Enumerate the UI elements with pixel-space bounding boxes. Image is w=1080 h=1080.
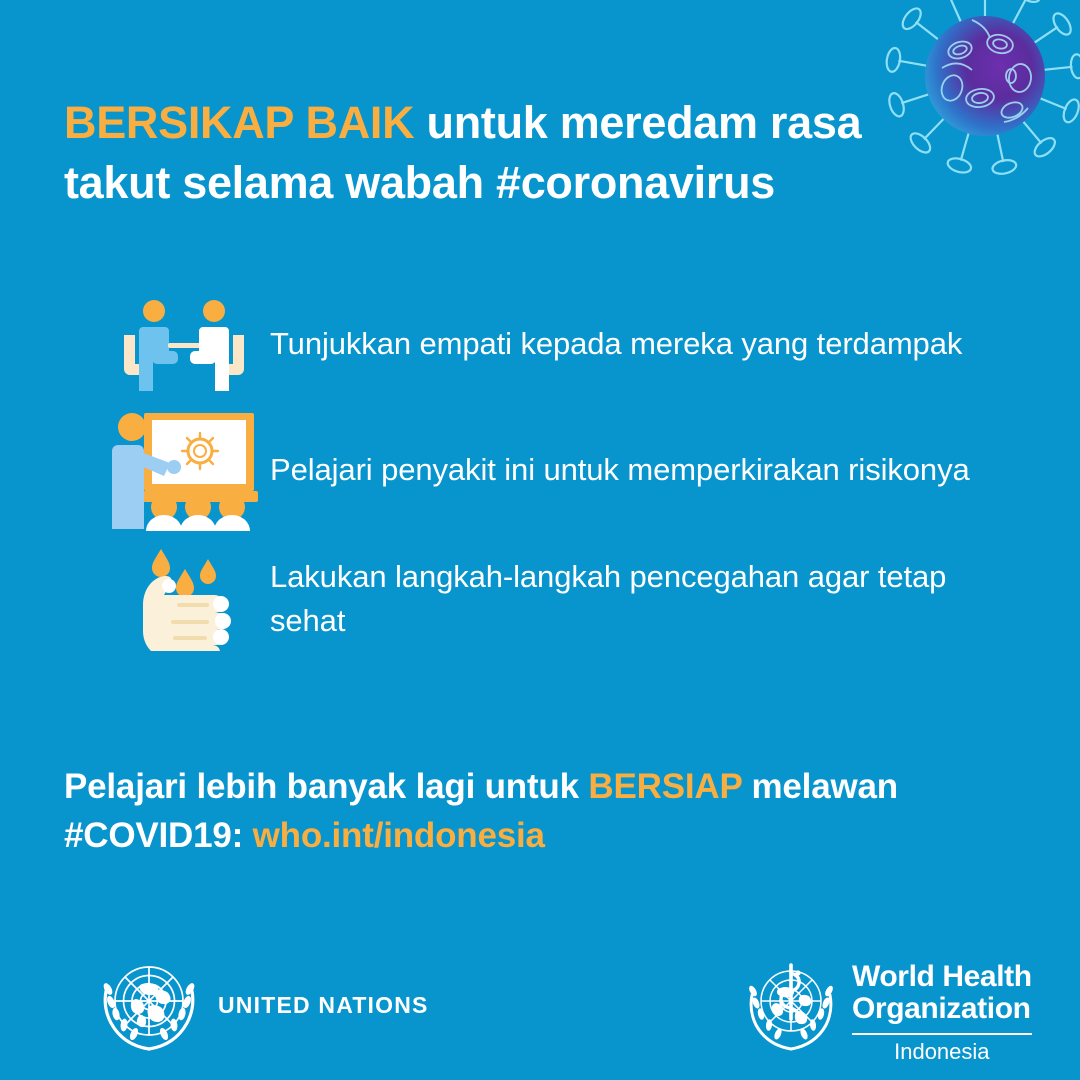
list-item: Tunjukkan empati kepada mereka yang terd… (104, 288, 1024, 400)
cta-accent-bersiap: BERSIAP (588, 767, 742, 806)
list-item-label: Lakukan langkah-langkah pencegahan agar … (264, 555, 1024, 643)
united-nations-emblem-icon (96, 955, 202, 1055)
united-nations-wordmark: UNITED NATIONS (218, 992, 429, 1019)
who-name-line2: Organization (852, 993, 1032, 1025)
who-wordmark: World Health Organization Indonesia (852, 957, 1032, 1064)
headline: BERSIKAP BAIK untuk meredam rasa takut s… (64, 93, 964, 213)
who-country-label: Indonesia (852, 1040, 1032, 1064)
list-item-label: Pelajari penyakit ini untuk memperkiraka… (264, 448, 1024, 492)
who-logo: World Health Organization Indonesia (742, 957, 1032, 1064)
cta-url-link[interactable]: who.int/indonesia (253, 816, 545, 855)
list-item: Lakukan langkah-langkah pencegahan agar … (104, 540, 1024, 658)
poster-canvas: BERSIKAP BAIK untuk meredam rasa takut s… (0, 0, 1080, 1080)
headline-accent: BERSIKAP BAIK (64, 97, 414, 148)
list-item-label: Tunjukkan empati kepada mereka yang terd… (264, 322, 1024, 366)
advice-list: Tunjukkan empati kepada mereka yang terd… (104, 288, 1024, 658)
two-people-at-table-icon (104, 297, 264, 391)
who-divider (852, 1033, 1032, 1035)
list-item: Pelajari penyakit ini untuk memperkiraka… (104, 400, 1024, 540)
who-name-line1: World Health (852, 961, 1032, 993)
cta-part1: Pelajari lebih banyak lagi untuk (64, 767, 588, 806)
united-nations-logo: UNITED NATIONS (96, 955, 429, 1055)
hand-washing-water-drops-icon (104, 547, 264, 651)
teacher-presentation-virus-icon (104, 409, 264, 531)
world-health-organization-emblem-icon (742, 957, 840, 1055)
call-to-action: Pelajari lebih banyak lagi untuk BERSIAP… (64, 762, 1004, 860)
